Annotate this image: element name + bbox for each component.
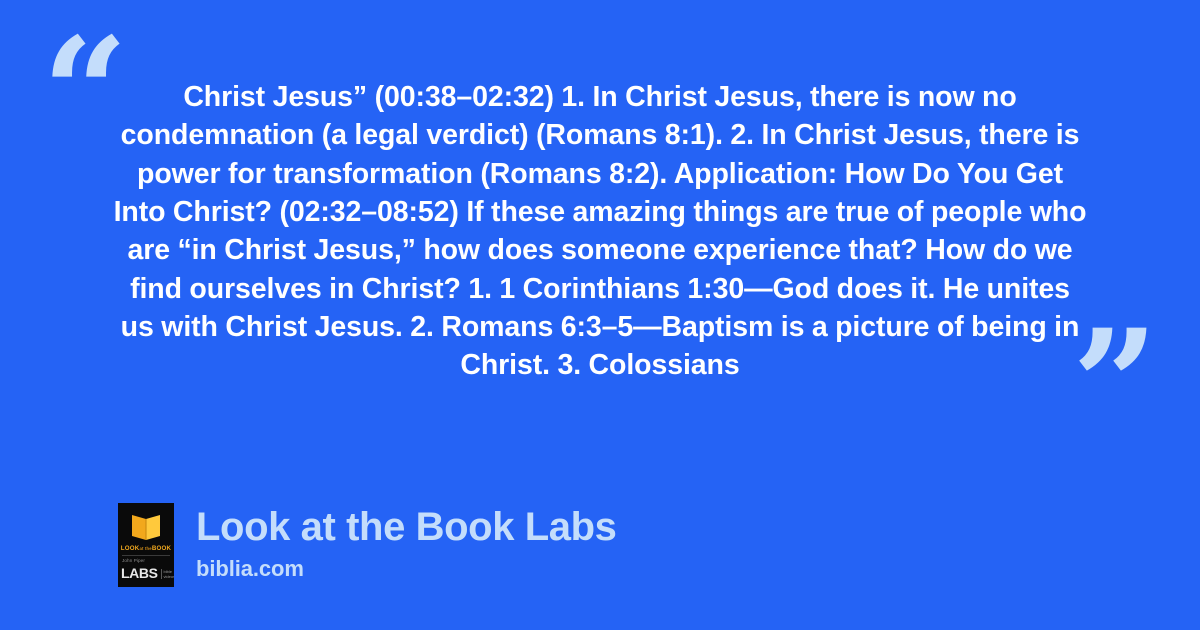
logo-labs-block: LABS bible videos bbox=[121, 566, 174, 580]
logo-title: LOOKat theBOOK bbox=[118, 545, 174, 552]
logo-labs-text: LABS bbox=[121, 566, 158, 580]
open-book-icon bbox=[129, 513, 163, 541]
logo-title-mid: at the bbox=[139, 546, 151, 551]
brand-footer: LOOKat theBOOK John Piper LABS bible vid… bbox=[118, 503, 617, 587]
quote-text: Christ Jesus” (00:38–02:32) 1. In Christ… bbox=[110, 78, 1090, 385]
logo-title-look: LOOK bbox=[121, 545, 140, 552]
brand-url[interactable]: biblia.com bbox=[196, 556, 617, 582]
logo-divider bbox=[122, 555, 170, 556]
quote-card: “ ” Christ Jesus” (00:38–02:32) 1. In Ch… bbox=[0, 0, 1200, 630]
logo-labs-subtext-line2: videos bbox=[164, 574, 174, 579]
brand-text-block: Look at the Book Labs biblia.com bbox=[196, 503, 617, 582]
brand-name: Look at the Book Labs bbox=[196, 505, 617, 550]
logo-author: John Piper bbox=[122, 558, 145, 563]
look-at-the-book-labs-logo: LOOKat theBOOK John Piper LABS bible vid… bbox=[118, 503, 174, 587]
logo-labs-subtext: bible videos bbox=[161, 569, 174, 579]
logo-title-book: BOOK bbox=[152, 545, 171, 552]
